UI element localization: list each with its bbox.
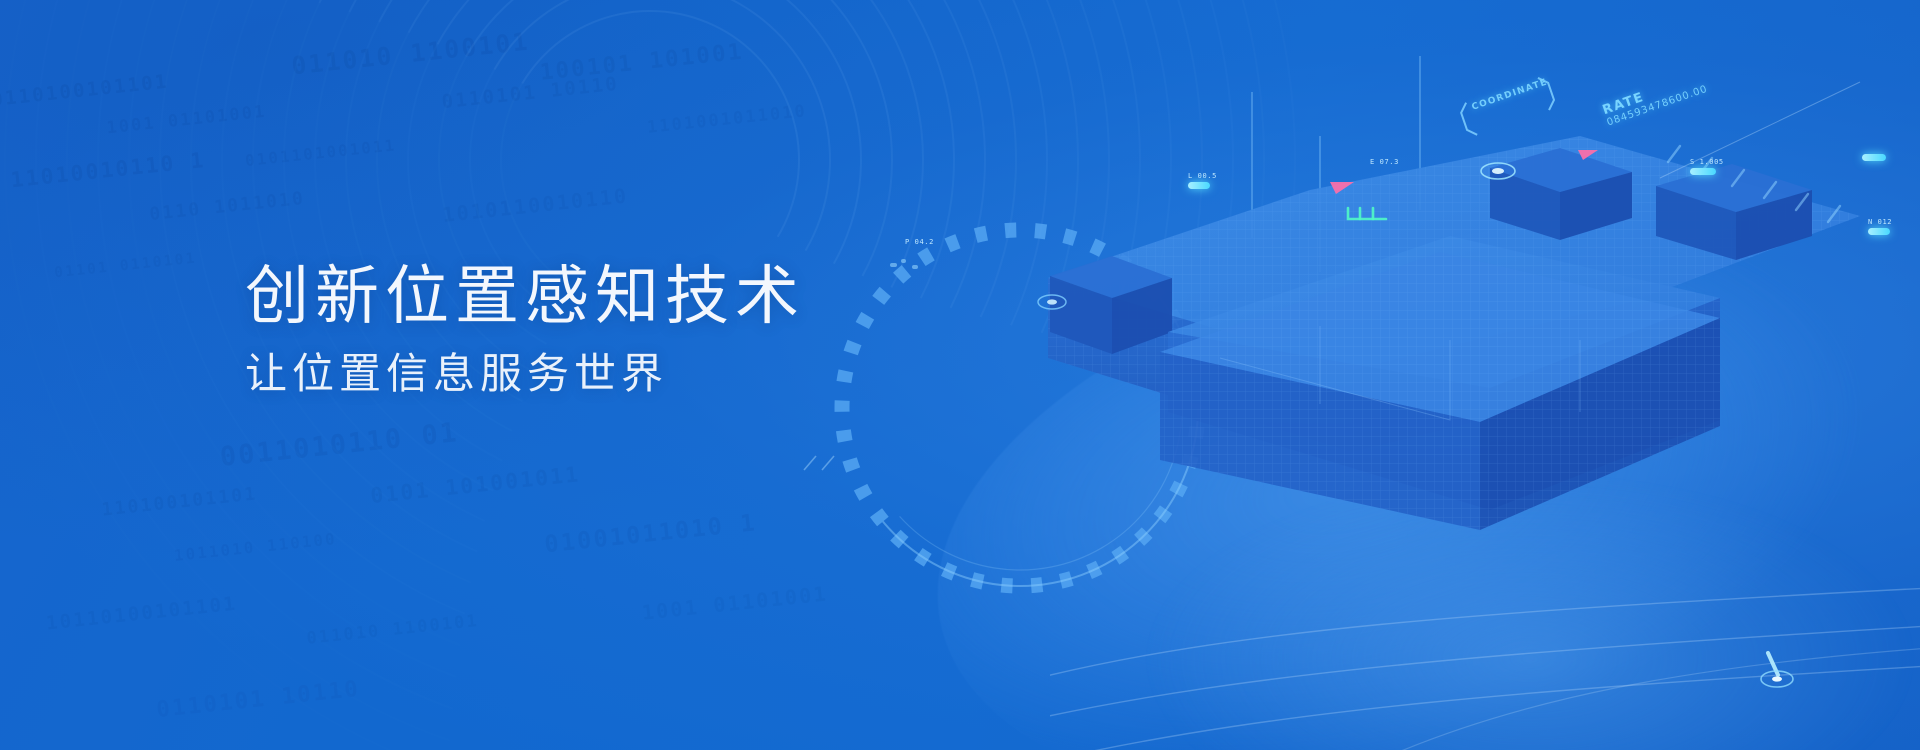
binary-code-row: 1010110010110 xyxy=(441,185,629,228)
binary-code-row: 11010010110 1 xyxy=(10,148,207,193)
binary-code-row: 011010 1100101 xyxy=(306,610,480,648)
binary-code-row: 0101 101001011 xyxy=(369,462,581,509)
binary-code-row: 01001011010 1 xyxy=(543,509,758,558)
binary-code-row: 10110100101101 xyxy=(45,593,238,635)
binary-code-row: 1001 01101001 xyxy=(641,583,829,626)
binary-code-row: 0110101 10110 xyxy=(441,73,621,114)
page-subtitle: 让位置信息服务世界 xyxy=(245,351,1005,397)
binary-code-row: 0011010110 01 xyxy=(218,416,459,472)
binary-code-row: 01101 0110101 xyxy=(53,250,197,282)
binary-code-row: 100101 101001 xyxy=(539,37,745,85)
binary-code-row: 0101101001011 xyxy=(244,137,397,171)
glyph-cluster-icon xyxy=(800,450,846,481)
fingerprint-ring xyxy=(307,0,993,503)
binary-code-row: 0110101 10110 xyxy=(155,675,361,723)
hero-copy: 创新位置感知技术 让位置信息服务世界 xyxy=(245,262,1005,397)
binary-code-row: 110100101101 xyxy=(101,483,259,521)
isometric-city-blocks xyxy=(1020,40,1920,620)
binary-code-row: 10110100101101 xyxy=(0,71,170,113)
binary-code-row: 1011010 110100 xyxy=(173,531,338,566)
page-title: 创新位置感知技术 xyxy=(245,262,1005,331)
hero-banner: 10110100101101011010 11001011001 0110100… xyxy=(0,0,1920,750)
location-pin-icon xyxy=(1730,645,1800,698)
binary-code-row: 1001 01101001 xyxy=(106,101,268,138)
binary-code-row: 0110 1011010 xyxy=(148,187,306,225)
hud-chip: P 04.2 xyxy=(905,238,934,246)
hud-chip-label: P 04.2 xyxy=(905,238,934,246)
binary-code-row: 011010 1100101 xyxy=(290,28,531,81)
binary-code-row: 1101001011010 xyxy=(646,100,808,137)
